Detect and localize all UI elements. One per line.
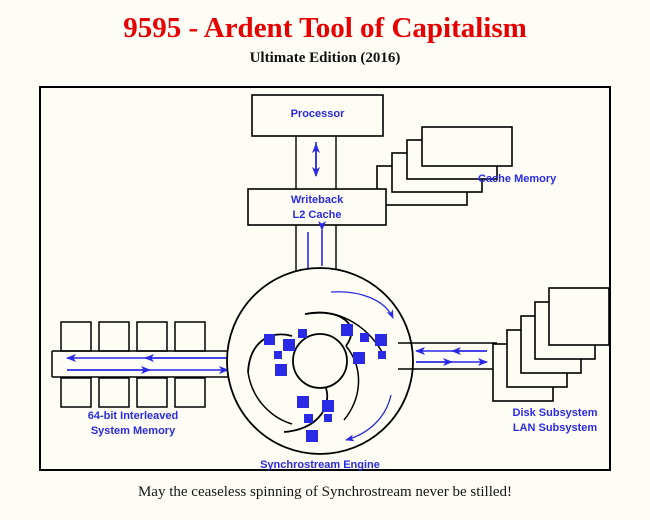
cache-memory-stack xyxy=(377,127,512,205)
l2-cache-label-line1: Writeback xyxy=(248,193,386,208)
system-memory-modules xyxy=(61,322,205,407)
lan-subsystem-label-line2: LAN Subsystem xyxy=(480,421,630,436)
memory-engine-bus[interactable] xyxy=(52,351,248,377)
page-caption: May the ceaseless spinning of Synchrostr… xyxy=(0,484,650,501)
system-memory-label-line1: 64-bit Interleaved xyxy=(53,409,213,424)
synchrostream-engine-label: Synchrostream Engine xyxy=(225,458,415,473)
page-root: 9595 - Ardent Tool of Capitalism Ultimat… xyxy=(0,0,650,520)
system-memory-label-line2: System Memory xyxy=(53,424,213,439)
processor-l2-bus[interactable] xyxy=(296,136,336,189)
diagram-canvas xyxy=(0,0,650,520)
disk-lan-stack xyxy=(493,288,609,401)
l2-cache-label-line2: L2 Cache xyxy=(248,208,386,223)
disk-subsystem-label-line1: Disk Subsystem xyxy=(480,406,630,421)
processor-label: Processor xyxy=(252,107,383,122)
synchrostream-engine xyxy=(227,268,413,454)
cache-memory-label: Cache Memory xyxy=(478,172,556,187)
